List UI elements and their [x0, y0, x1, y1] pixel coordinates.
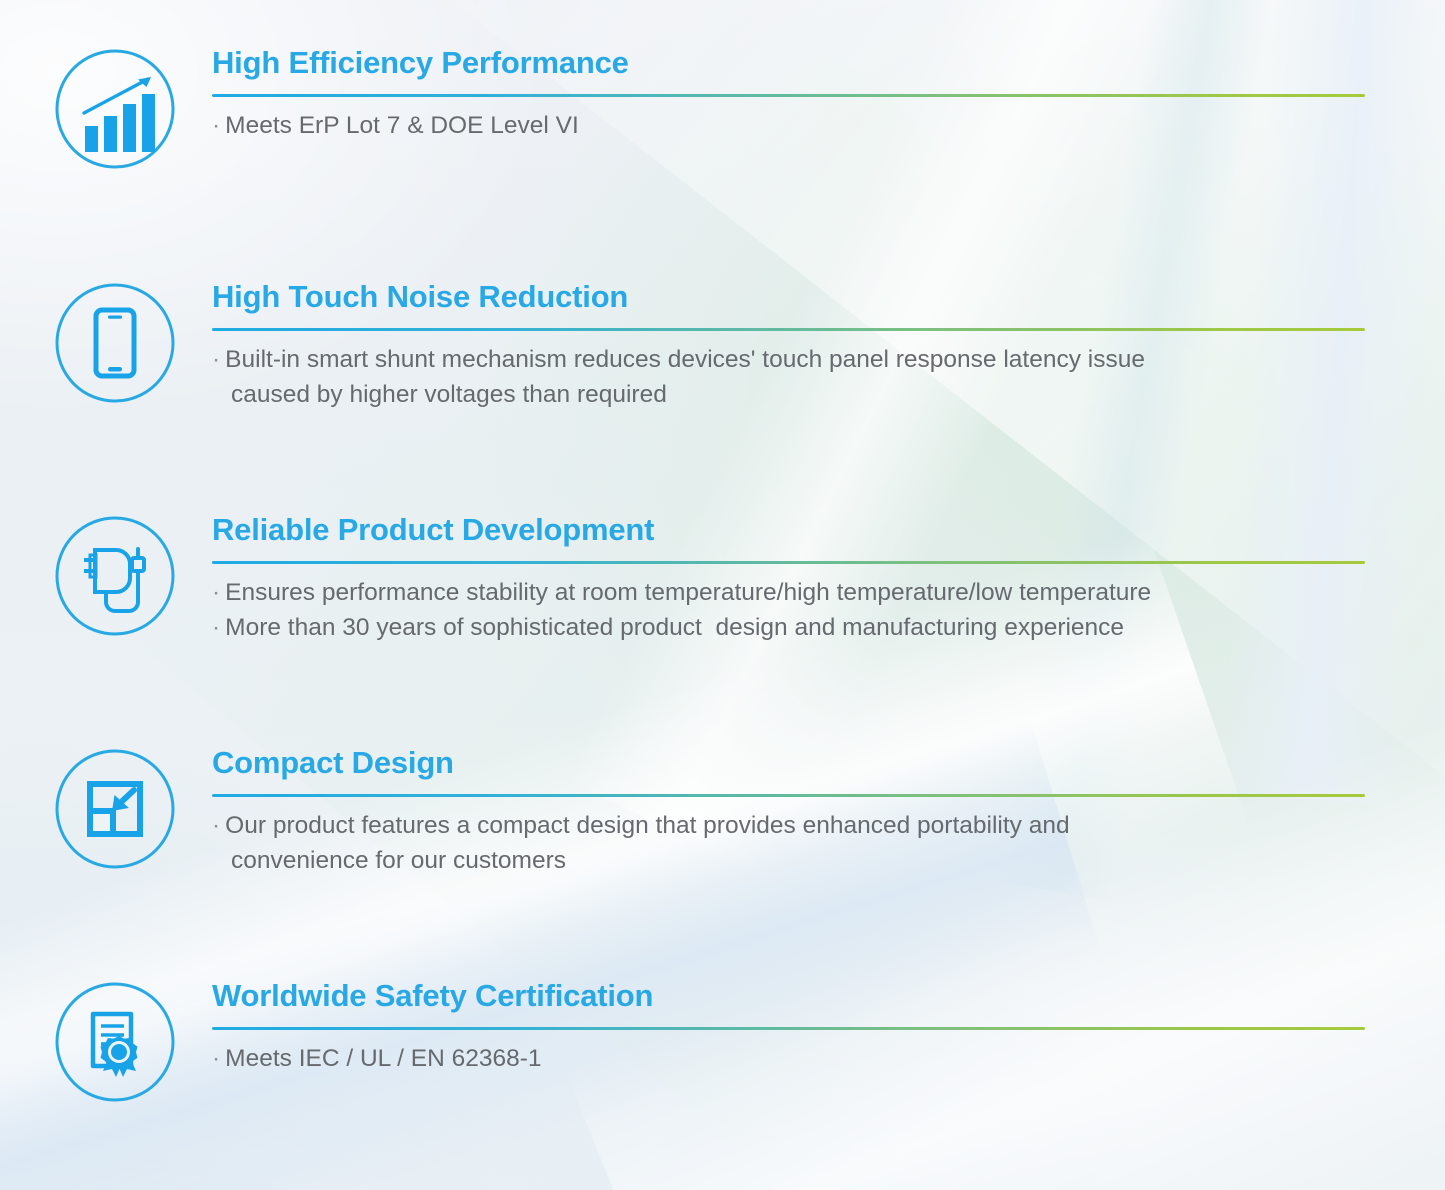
feature-divider [212, 561, 1365, 564]
feature-item-high-touch-noise-reduction: High Touch Noise Reduction ·Built-in sma… [0, 280, 1445, 413]
feature-description: ·Meets ErP Lot 7 & DOE Level VI [212, 109, 1367, 144]
feature-icon-slot [52, 513, 178, 639]
bullet-glyph: · [212, 812, 220, 839]
feature-line-text: More than 30 years of sophisticated prod… [225, 614, 1124, 641]
feature-item-worldwide-safety-certification: Worldwide Safety Certification ·Meets IE… [0, 979, 1445, 1105]
bullet-glyph: · [212, 579, 220, 606]
feature-line-text: Meets ErP Lot 7 & DOE Level VI [225, 112, 579, 139]
bullet-glyph: · [212, 614, 220, 641]
feature-line-text: convenience for our customers [231, 847, 566, 874]
feature-item-reliable-product-development: Reliable Product Development ·Ensures pe… [0, 513, 1445, 646]
feature-text-block: Worldwide Safety Certification ·Meets IE… [212, 979, 1445, 1077]
feature-description: ·Ensures performance stability at room t… [212, 576, 1367, 646]
smartphone-icon [52, 280, 178, 406]
feature-title: Reliable Product Development [212, 513, 1367, 547]
bullet-glyph: · [212, 112, 220, 139]
feature-divider [212, 1027, 1365, 1030]
feature-divider [212, 328, 1365, 331]
feature-text-block: High Efficiency Performance ·Meets ErP L… [212, 46, 1445, 144]
bar-chart-growth-icon [52, 46, 178, 172]
feature-title: High Efficiency Performance [212, 46, 1367, 80]
feature-divider [212, 794, 1365, 797]
compact-resize-icon [52, 746, 178, 872]
feature-line-text: Our product features a compact design th… [225, 812, 1069, 839]
feature-title: High Touch Noise Reduction [212, 280, 1367, 314]
feature-line: ·Built-in smart shunt mechanism reduces … [212, 343, 1367, 378]
feature-item-compact-design: Compact Design ·Our product features a c… [0, 746, 1445, 879]
feature-line-text: Meets IEC / UL / EN 62368-1 [225, 1045, 541, 1072]
feature-text-block: Compact Design ·Our product features a c… [212, 746, 1445, 879]
feature-description: ·Built-in smart shunt mechanism reduces … [212, 343, 1367, 413]
feature-line: ·Meets IEC / UL / EN 62368-1 [212, 1042, 1367, 1077]
power-adapter-icon [52, 513, 178, 639]
feature-line: convenience for our customers [212, 844, 1367, 879]
feature-description: ·Our product features a compact design t… [212, 809, 1367, 879]
feature-line: ·Our product features a compact design t… [212, 809, 1367, 844]
feature-description: ·Meets IEC / UL / EN 62368-1 [212, 1042, 1367, 1077]
feature-line-text: Built-in smart shunt mechanism reduces d… [225, 346, 1145, 373]
feature-line-text: Ensures performance stability at room te… [225, 579, 1151, 606]
feature-line: ·Meets ErP Lot 7 & DOE Level VI [212, 109, 1367, 144]
feature-icon-slot [52, 979, 178, 1105]
feature-line: ·More than 30 years of sophisticated pro… [212, 611, 1367, 646]
feature-line: ·Ensures performance stability at room t… [212, 576, 1367, 611]
feature-line: caused by higher voltages than required [212, 378, 1367, 413]
feature-text-block: High Touch Noise Reduction ·Built-in sma… [212, 280, 1445, 413]
bullet-glyph: · [212, 346, 220, 373]
feature-item-high-efficiency-performance: High Efficiency Performance ·Meets ErP L… [0, 46, 1445, 172]
feature-icon-slot [52, 280, 178, 406]
feature-title: Compact Design [212, 746, 1367, 780]
feature-divider [212, 94, 1365, 97]
bullet-glyph: · [212, 1045, 220, 1072]
certificate-seal-icon [52, 979, 178, 1105]
feature-highlights-page: High Efficiency Performance ·Meets ErP L… [0, 0, 1445, 1190]
feature-line-text: caused by higher voltages than required [231, 381, 667, 408]
feature-icon-slot [52, 46, 178, 172]
feature-title: Worldwide Safety Certification [212, 979, 1367, 1013]
feature-icon-slot [52, 746, 178, 872]
feature-text-block: Reliable Product Development ·Ensures pe… [212, 513, 1445, 646]
